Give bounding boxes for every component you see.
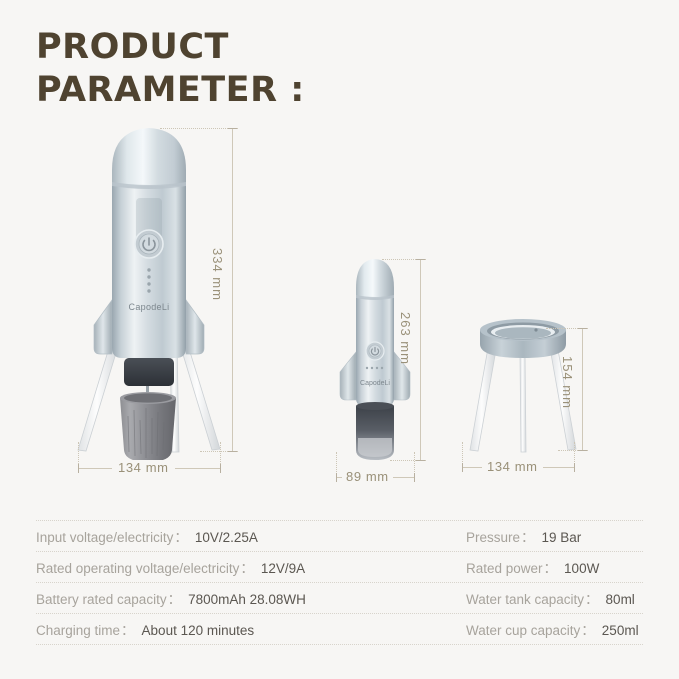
product-3-width-cap-left [462, 463, 463, 472]
spec-value: 10V/2.25A [190, 530, 258, 545]
product-2-power-button [366, 342, 384, 360]
spec-cell-rated-power: Rated power ： 100W [466, 557, 643, 577]
product-2-width-cap-right [414, 473, 415, 482]
product-1-cup [120, 392, 176, 462]
product-1-dome [112, 128, 186, 186]
product-1-power-button [135, 230, 163, 258]
page-title-line-1: PRODUCT [36, 26, 436, 69]
spec-cell-water-cup-capacity: Water cup capacity ： 250ml [466, 619, 643, 639]
spec-cell-input-voltage: Input voltage/electricity ： 10V/2.25A [36, 526, 466, 546]
product-illustrations: CapodeLi [0, 120, 679, 500]
table-row: Battery rated capacity ： 7800mAh 28.08WH… [36, 582, 643, 613]
spec-separator: ： [167, 588, 184, 608]
product-2-illustration: CapodeLi [320, 254, 430, 469]
spec-separator: ： [580, 619, 597, 639]
product-1-width-cap-left [78, 464, 79, 473]
product-2-height-dimension-line [420, 259, 421, 460]
spec-value: 250ml [597, 623, 639, 638]
product-2-water-tank [356, 402, 394, 460]
spec-value: About 120 minutes [137, 623, 255, 638]
product-3-width-label: 134 mm [482, 459, 543, 474]
product-1-height-cap-top [228, 128, 237, 129]
product-1-group: CapodeLi [50, 120, 270, 500]
spec-cell-water-tank-capacity: Water tank capacity ： 80ml [466, 588, 643, 608]
spec-cell-battery-capacity: Battery rated capacity ： 7800mAh 28.08WH [36, 588, 466, 608]
spec-value: 7800mAh 28.08WH [183, 592, 306, 607]
spec-key: Charging time [36, 623, 120, 638]
table-row: Input voltage/electricity ： 10V/2.25A Pr… [36, 520, 643, 551]
product-1-height-dimension-line [232, 128, 233, 451]
product-2-height-cap-top [416, 259, 425, 260]
product-2-width-label: 89 mm [342, 469, 393, 484]
spec-separator: ： [584, 588, 601, 608]
table-row: Charging time ： About 120 minutes Water … [36, 613, 643, 645]
product-1-width-cap-right [220, 464, 221, 473]
spec-key: Water cup capacity [466, 623, 580, 638]
product-1-capsule-holder [124, 358, 174, 386]
product-1-brand-logo: CapodeLi [129, 302, 170, 312]
product-2-height-cap-bottom [416, 460, 425, 461]
spec-value: 19 Bar [537, 530, 582, 545]
product-2-width-cap-left [336, 473, 337, 482]
spec-cell-rated-operating-voltage: Rated operating voltage/electricity ： 12… [36, 557, 466, 577]
product-2-group: CapodeLi 263 mm 89 mm [320, 240, 460, 500]
spec-value: 80ml [601, 592, 635, 607]
spec-key: Rated operating voltage/electricity [36, 561, 239, 576]
spec-key: Water tank capacity [466, 592, 584, 607]
product-3-height-cap-top [578, 328, 587, 329]
spec-key: Rated power [466, 561, 543, 576]
product-1-illustration: CapodeLi [50, 120, 270, 480]
spec-separator: ： [120, 619, 137, 639]
spec-value: 100W [559, 561, 599, 576]
product-3-group: 154 mm 134 mm [450, 300, 630, 500]
product-2-dome [356, 259, 394, 298]
product-3-height-dimension-line [582, 328, 583, 450]
table-row: Rated operating voltage/electricity ： 12… [36, 551, 643, 582]
spec-separator: ： [520, 526, 537, 546]
spec-separator: ： [239, 557, 256, 577]
product-3-height-cap-bottom [578, 450, 587, 451]
spec-value: 12V/9A [256, 561, 305, 576]
specification-table: Input voltage/electricity ： 10V/2.25A Pr… [36, 520, 643, 645]
product-1-height-label: 334 mm [210, 248, 225, 301]
page-title-line-2: PARAMETER : [36, 69, 436, 112]
product-2-brand-logo: CapodeLi [360, 380, 390, 387]
spec-cell-charging-time: Charging time ： About 120 minutes [36, 619, 466, 639]
spec-separator: ： [543, 557, 560, 577]
spec-key: Pressure [466, 530, 520, 545]
product-1-height-cap-bottom [228, 451, 237, 452]
product-3-width-cap-right [574, 463, 575, 472]
product-3-ring-hole [534, 328, 537, 331]
product-1-width-label: 134 mm [112, 460, 175, 475]
product-1-top-guide [160, 128, 238, 129]
spec-cell-pressure: Pressure ： 19 Bar [466, 526, 643, 546]
spec-key: Input voltage/electricity [36, 530, 173, 545]
product-3-height-label: 154 mm [560, 356, 575, 409]
spec-key: Battery rated capacity [36, 592, 167, 607]
product-2-height-label: 263 mm [398, 312, 413, 365]
page-title: PRODUCT PARAMETER : [36, 26, 436, 111]
spec-separator: ： [173, 526, 190, 546]
